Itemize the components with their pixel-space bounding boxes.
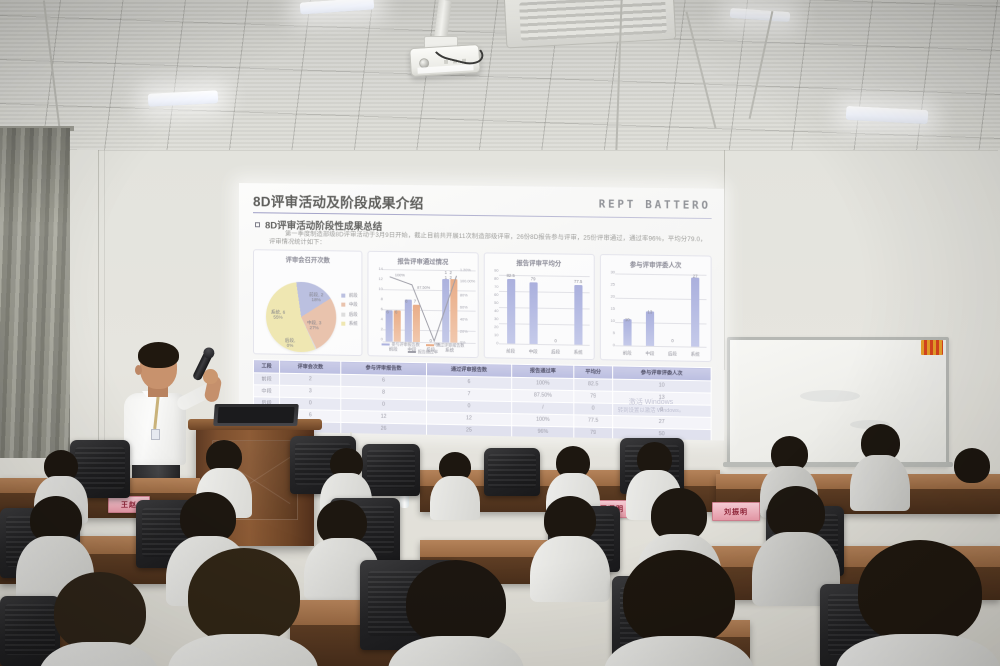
person-shoulders (850, 455, 910, 511)
legend-label: 通过评审报告数 (436, 342, 464, 349)
legend-item: 系统 (342, 321, 358, 327)
audience-member (944, 448, 1000, 522)
whiteboard-pen-tray (723, 462, 953, 467)
legend-swatch (342, 312, 346, 316)
chart-card-judge-count: 参与评审评委人次 30 25 20 15 10 5 0 (600, 254, 712, 362)
bar-group-container: 10 13 0 27 (616, 272, 707, 346)
bar-judge-count (623, 319, 631, 345)
legend-swatch (342, 322, 346, 326)
cell: 79 (574, 427, 612, 439)
pie-label-val-1: 3 (319, 320, 322, 325)
chart-card-pass-rate: 报告评审通过情况 14 12 10 8 6 4 2 0 (368, 251, 478, 358)
bar-group: 0 (544, 271, 566, 344)
combo-legend: 参与评审报告数 通过评审报告数 报告通过率 (375, 341, 471, 356)
y-tick: 60 (494, 293, 498, 297)
legend-label: 参与评审报告数 (392, 342, 420, 349)
y-tick: 50 (494, 301, 498, 305)
legend-item: 中段 (342, 302, 358, 308)
y-tick: 20 (494, 325, 498, 329)
presenter-hand (203, 369, 218, 384)
legend-row: 报告通过率 (375, 348, 471, 356)
bar-value-label: 77.5 (567, 279, 590, 284)
bar-avg-score (507, 279, 515, 344)
x-tick: 后段 (544, 349, 566, 355)
bar-value-label: 79 (522, 276, 544, 281)
audience-member (752, 486, 840, 598)
y-axis-left: 30 25 20 15 10 5 0 (603, 270, 615, 345)
person-head (858, 540, 982, 644)
pie-label-val-0: 2 (321, 292, 324, 297)
audience-member (836, 540, 1000, 666)
person-shoulders (836, 634, 1000, 666)
cell: 96% (512, 425, 574, 437)
y-tick: 70 (494, 285, 498, 289)
ceiling (0, 0, 1000, 150)
audience-member (38, 572, 160, 666)
th-duan: 工段 (254, 360, 280, 373)
person-shoulders (430, 476, 480, 520)
presenter-hair (138, 342, 179, 368)
judge-count-plot-area: 30 25 20 15 10 5 0 (601, 270, 711, 359)
legend-item: 后段 (342, 311, 358, 317)
presenter-badge (151, 429, 160, 440)
x-tick: 系统 (684, 352, 707, 358)
cell: 77.5 (574, 414, 612, 427)
audience-member (530, 496, 610, 596)
avg-score-plot-area: 90 80 70 60 50 40 30 20 10 0 (484, 269, 593, 358)
legend-swatch (342, 303, 346, 307)
person-head (188, 548, 300, 644)
bar-group: 10 (616, 272, 639, 345)
legend-label: 报告通过率 (418, 349, 438, 355)
bar-group: 82.5 (499, 271, 521, 344)
chart-title-avg-score: 报告评审平均分 (484, 257, 593, 268)
pie-label-pct-2: 0% (287, 343, 294, 348)
bar-group-container: 82.5 79 0 7 (499, 271, 589, 345)
legend-item: 报告通过率 (408, 349, 438, 356)
bar-value-label: 27 (684, 273, 707, 278)
cell: 中段 (254, 384, 280, 396)
legend-label: 中段 (349, 302, 358, 308)
bar-value-label: 0 (661, 338, 684, 343)
y-tick: 90 (494, 269, 498, 273)
chart-card-row: 评审会召开次数 前段, 2 18% 中段, 3 27% (253, 249, 712, 362)
legend-item: 参与评审报告数 (381, 341, 419, 348)
name-card-text: 刘振明 (724, 507, 748, 517)
summary-table: 工段 评审会次数 参与评审报告数 通过评审报告数 报告通过率 平均分 参与评审评… (253, 359, 712, 440)
bar-value-label: 13 (639, 309, 662, 314)
bar-judge-count (691, 278, 699, 347)
cell: 79 (574, 390, 612, 403)
audience-member (388, 560, 524, 666)
person-head (406, 560, 506, 646)
cell: 82.5 (574, 378, 612, 391)
pie-label-cat-3: 系统 (271, 310, 280, 315)
presenter-ear (135, 365, 142, 375)
whiteboard-corner-decoration (921, 340, 943, 355)
pie-slice-label-3: 系统, 6 55% (266, 309, 290, 320)
chart-title-pie: 评审会召开次数 (254, 254, 362, 265)
chair[interactable] (484, 448, 540, 496)
chart-card-pie: 评审会召开次数 前段, 2 18% 中段, 3 27% (253, 249, 363, 356)
x-tick: 前段 (499, 348, 521, 354)
cell: 87.50% (512, 389, 574, 402)
bar-judge-count (646, 311, 654, 346)
legend-label: 后段 (349, 312, 358, 318)
pie-plot-area: 前段, 2 18% 中段, 3 27% 后段, 0% (254, 265, 362, 353)
pie-label-val-3: 6 (283, 310, 286, 315)
legend-label: 前段 (349, 293, 358, 299)
wall-seam (104, 150, 105, 450)
whiteboard-smudge (800, 390, 860, 402)
cell: 前段 (254, 372, 280, 384)
pie-label-pct-3: 55% (273, 315, 282, 320)
pie-label-cat-2: 后段 (285, 338, 294, 343)
x-tick: 系统 (567, 350, 590, 356)
person-head (54, 572, 146, 652)
cell: 0 (574, 402, 612, 415)
y-tick: 10 (494, 333, 498, 337)
pie-label-pct-0: 18% (312, 298, 321, 303)
photo-scene: 8D评审活动及阶段成果介绍 REPT BATTERO 8D评审活动阶段性成果总结… (0, 0, 1000, 666)
legend-item: 通过评审报告数 (426, 342, 464, 349)
bar-group: 77.5 (567, 272, 590, 345)
cell: / (512, 401, 574, 414)
chart-card-avg-score: 报告评审平均分 90 80 70 60 50 40 30 20 10 0 (483, 252, 594, 360)
person-head (623, 550, 735, 646)
person-shoulders (604, 636, 754, 666)
cell: 3 (280, 385, 341, 398)
line-point-label-0: 100% (395, 273, 405, 277)
audience-member (168, 548, 318, 666)
legend-swatch (381, 343, 389, 346)
pie-legend: 前段 中段 后段 系统 (342, 293, 358, 331)
x-tick: 后段 (661, 351, 684, 357)
x-tick: 中段 (639, 351, 662, 357)
legend-label: 系统 (349, 321, 358, 327)
th-pass-rate: 报告通过率 (512, 364, 574, 378)
legend-swatch (408, 351, 416, 353)
y-tick: 80 (494, 277, 498, 281)
legend-swatch (342, 294, 346, 298)
bar-group: 0 (661, 273, 684, 346)
y-axis-left: 90 80 70 60 50 40 30 20 10 0 (486, 269, 498, 344)
square-bullet-icon (255, 222, 260, 227)
th-meetings: 评审会次数 (280, 360, 341, 374)
name-card-text: 王赵 (121, 500, 137, 510)
pass-rate-line (369, 267, 477, 353)
person-shoulders (388, 636, 524, 666)
line-point-label-1: 87.50% (417, 286, 430, 290)
bar-avg-score (574, 285, 582, 345)
person-shoulders (530, 536, 610, 602)
bar-group: 13 (639, 273, 662, 346)
chart-title-judge-count: 参与评审评委人次 (601, 259, 711, 270)
wall-seam (98, 150, 99, 450)
legend-item: 前段 (342, 293, 358, 299)
th-avg-score: 平均分 (574, 365, 612, 378)
person-shoulders (944, 477, 1000, 527)
cell: 26 (341, 422, 426, 435)
pie-label-cat-1: 中段 (307, 320, 316, 325)
projected-slide: 8D评审活动及阶段成果介绍 REPT BATTERO 8D评审活动阶段性成果总结… (239, 183, 724, 440)
pie-slice-label-1: 中段, 3 27% (302, 320, 326, 331)
y-tick: 25 (611, 282, 615, 286)
y-tick: 5 (613, 331, 615, 335)
cell: 100% (512, 377, 574, 390)
bar-value-label: 0 (544, 338, 566, 343)
y-tick: 40 (494, 309, 498, 313)
pie-label-cat-0: 前段 (309, 292, 318, 297)
ceiling-tile-texture (0, 0, 1000, 150)
pie-label-pct-1: 27% (310, 326, 319, 331)
cell: 2 (280, 373, 341, 386)
person-shoulders (38, 642, 160, 666)
bar-group: 79 (522, 271, 544, 344)
bar-avg-score (529, 282, 537, 344)
y-tick: 30 (494, 317, 498, 321)
rept-battero-logo: REPT BATTERO (599, 198, 711, 212)
wall-seam (98, 150, 998, 151)
x-tick: 前段 (616, 350, 639, 356)
cell: 25 (426, 424, 512, 437)
y-tick: 15 (611, 307, 615, 311)
wall-seam (724, 120, 725, 370)
audience-member (850, 424, 910, 504)
x-tick: 中段 (522, 349, 544, 355)
bar-value-label: 10 (616, 317, 639, 322)
legend-swatch (426, 344, 434, 347)
person-shoulders (168, 634, 318, 666)
pie-slice-label-0: 前段, 2 18% (304, 292, 328, 303)
pie-slice-label-2: 后段, 0% (280, 338, 300, 349)
window-curtain[interactable] (0, 128, 70, 458)
audience-member (604, 550, 754, 666)
chart-title-pass-rate: 报告评审通过情况 (369, 256, 477, 267)
bar-group: 27 (684, 273, 707, 346)
audience-member (430, 452, 480, 516)
x-axis-labels: 前段 中段 后段 系统 (499, 348, 589, 356)
x-axis-labels: 前段 中段 后段 系统 (616, 350, 707, 358)
bar-value-label: 82.5 (499, 273, 521, 278)
